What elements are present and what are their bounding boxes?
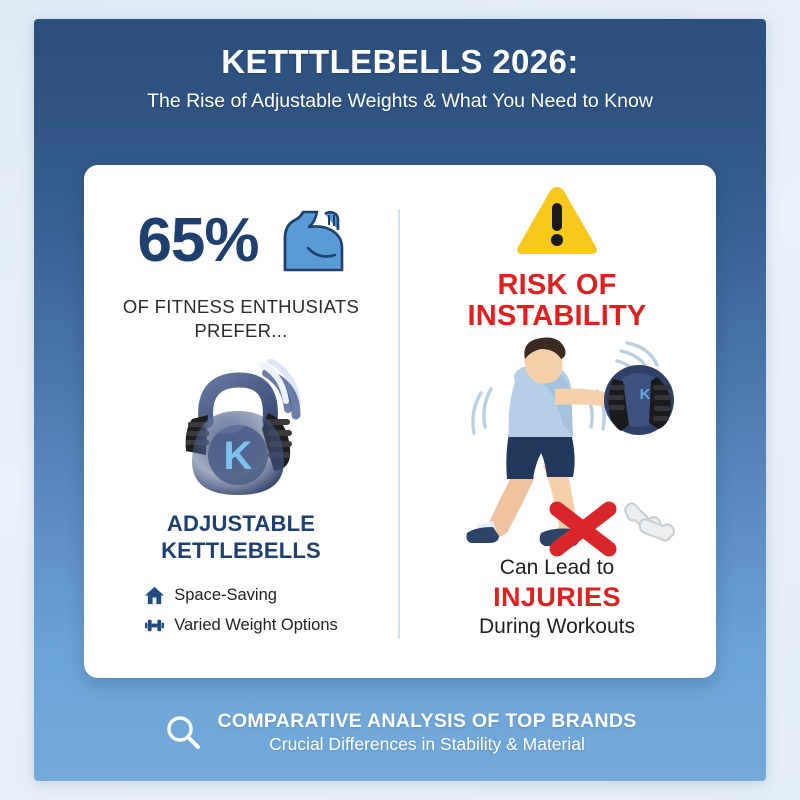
stat-percentage: 65% xyxy=(137,210,258,272)
magnifying-glass-icon xyxy=(163,713,203,753)
header: KETTTLEBELLS 2026: The Rise of Adjustabl… xyxy=(34,19,766,114)
page-subtitle: The Rise of Adjustable Weights & What Yo… xyxy=(130,89,670,115)
product-label: ADJUSTABLE KETTLEBELLS xyxy=(100,511,382,565)
man-swinging-kettlebell-illustration: K xyxy=(431,337,683,559)
consequence-block: Can Lead to INJURIES During Workouts xyxy=(412,555,702,638)
flexed-bicep-icon xyxy=(267,208,345,274)
warning-triangle-icon xyxy=(514,183,600,261)
risk-heading: RISK OF INSTABILITY xyxy=(412,270,702,331)
feature-label: Space-Saving xyxy=(174,586,277,605)
consequence-line-2: During Workouts xyxy=(412,614,702,639)
feature-item-varied-weight: Varied Weight Options xyxy=(144,615,338,636)
risk-heading-line1: RISK OF xyxy=(412,270,702,301)
right-panel: RISK OF INSTABILITY xyxy=(398,165,716,678)
feature-label: Varied Weight Options xyxy=(174,616,338,635)
kettlebell-brand-mark: K xyxy=(224,434,253,478)
broken-bones-icon xyxy=(625,504,674,541)
content-panel: 65% OF FITNESS ENTHUSIATS PREFER... xyxy=(84,165,716,678)
stat-caption: OF FITNESS ENTHUSIATS PREFER... xyxy=(100,295,382,343)
product-image-wrap: K xyxy=(100,357,382,507)
page-title: KETTTLEBELLS 2026: xyxy=(34,45,766,80)
house-icon xyxy=(144,585,165,606)
consequence-emphasis: INJURIES xyxy=(412,581,702,614)
infographic-card: KETTTLEBELLS 2026: The Rise of Adjustabl… xyxy=(34,19,766,781)
footer-title: COMPARATIVE ANALYSIS OF TOP BRANDS xyxy=(217,710,636,733)
risk-heading-line2: INSTABILITY xyxy=(412,301,702,332)
left-panel: 65% OF FITNESS ENTHUSIATS PREFER... xyxy=(84,165,398,678)
svg-text:K: K xyxy=(640,386,651,403)
feature-item-space-saving: Space-Saving xyxy=(144,585,338,606)
adjustable-kettlebell-icon: K xyxy=(166,359,316,505)
feature-list: Space-Saving Varied Weight Options xyxy=(144,585,338,645)
statistic-row: 65% xyxy=(100,195,382,287)
dumbbell-icon xyxy=(144,615,165,636)
footer-text: COMPARATIVE ANALYSIS OF TOP BRANDS Cruci… xyxy=(217,710,636,755)
footer-subtitle: Crucial Differences in Stability & Mater… xyxy=(217,734,636,755)
illustration-wrap: K xyxy=(412,337,702,559)
footer: COMPARATIVE ANALYSIS OF TOP BRANDS Cruci… xyxy=(34,710,766,755)
